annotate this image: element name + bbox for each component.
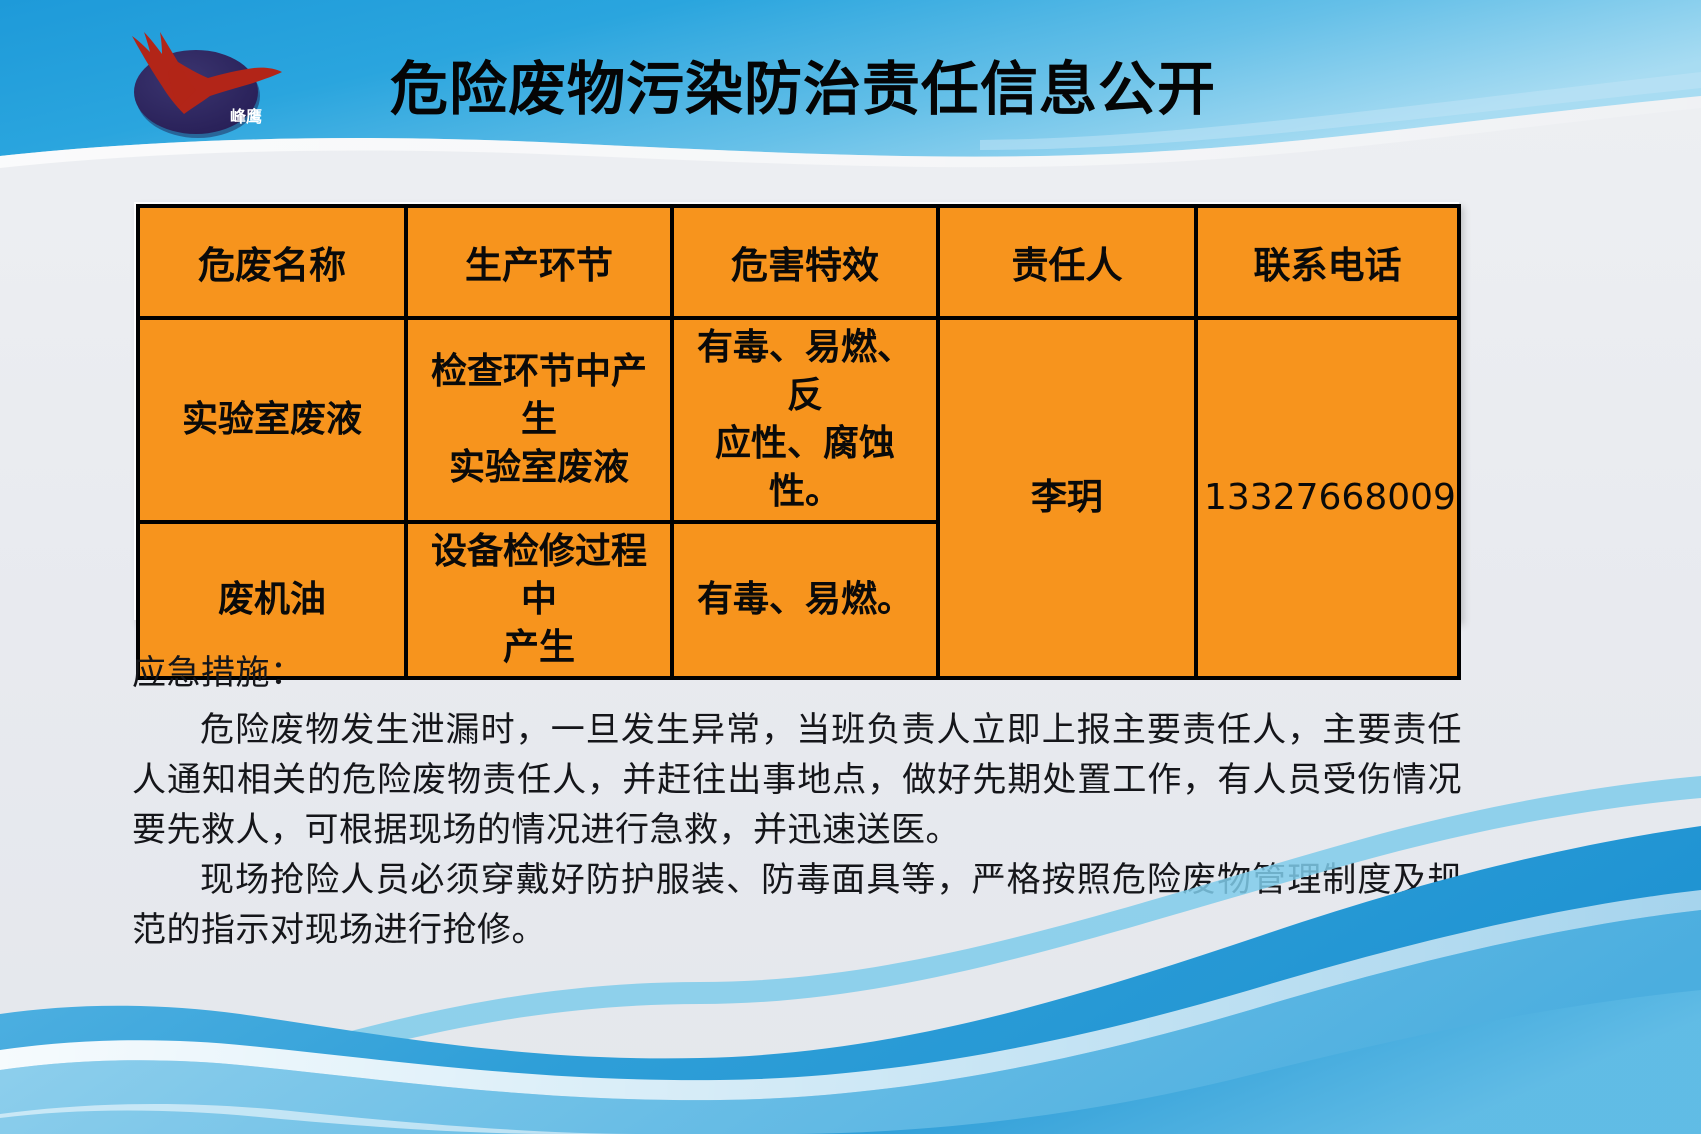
slide-canvas: 峰鹰 危险废物污染防治责任信息公开 危废名称 生产环节 危害特效 责任人 联系电… [0, 0, 1701, 1134]
cell-phone: 13327668009 [1196, 318, 1459, 678]
cell-stage-1-line1: 检查环节中产生 [414, 348, 664, 444]
cell-stage-2-line1: 设备检修过程中 [414, 528, 664, 624]
emergency-paragraph-2: 现场抢险人员必须穿戴好防护服装、防毒面具等，严格按照危险废物管理制度及规范的指示… [132, 856, 1462, 956]
cell-hazard-1: 有毒、易燃、反 应性、腐蚀性。 [672, 318, 938, 522]
hazardous-waste-table: 危废名称 生产环节 危害特效 责任人 联系电话 实验室废液 检查环节中产生 实验… [136, 204, 1461, 680]
eagle-logo: 峰鹰 [104, 18, 286, 150]
cell-person: 李玥 [938, 318, 1196, 678]
page-title: 危险废物污染防治责任信息公开 [390, 54, 1290, 124]
column-header-stage: 生产环节 [406, 206, 672, 318]
cell-stage-1: 检查环节中产生 实验室废液 [406, 318, 672, 522]
cell-hazard-1-line2: 应性、腐蚀性。 [680, 420, 930, 516]
cell-hazard-1-line1: 有毒、易燃、反 [680, 324, 930, 420]
cell-stage-1-line2: 实验室废液 [414, 444, 664, 492]
table-header-row: 危废名称 生产环节 危害特效 责任人 联系电话 [138, 206, 1459, 318]
column-header-hazard: 危害特效 [672, 206, 938, 318]
emergency-paragraph-1: 危险废物发生泄漏时，一旦发生异常，当班负责人立即上报主要责任人，主要责任人通知相… [132, 706, 1462, 856]
column-header-waste-name: 危废名称 [138, 206, 406, 318]
cell-waste-name-1: 实验室废液 [138, 318, 406, 522]
column-header-phone: 联系电话 [1196, 206, 1459, 318]
logo-text: 峰鹰 [230, 107, 262, 126]
emergency-heading: 应急措施： [132, 648, 1462, 700]
table-row: 实验室废液 检查环节中产生 实验室废液 有毒、易燃、反 应性、腐蚀性。 李玥 1… [138, 318, 1459, 522]
emergency-measures-block: 应急措施： 危险废物发生泄漏时，一旦发生异常，当班负责人立即上报主要责任人，主要… [132, 648, 1462, 956]
eagle-logo-graphic: 峰鹰 [104, 18, 286, 150]
column-header-person: 责任人 [938, 206, 1196, 318]
